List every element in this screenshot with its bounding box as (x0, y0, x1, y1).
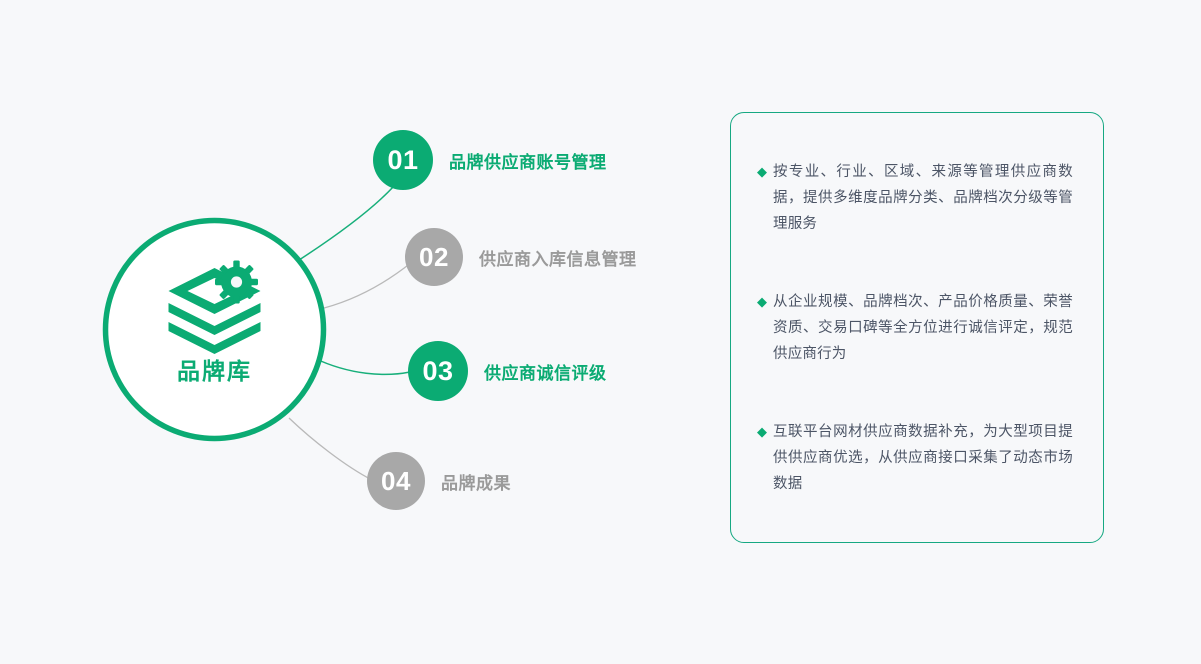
diamond-bullet-icon: ◆ (757, 419, 773, 445)
connector-line-01 (296, 186, 394, 262)
infographic-canvas: 品牌库 01 品牌供应商账号管理 02 供应商入库信息管理 03 供应商诚信评级… (0, 0, 1201, 664)
node-02[interactable]: 02 供应商入库信息管理 (405, 228, 637, 286)
connector-line-02 (316, 262, 412, 310)
description-item: ◆ 按专业、行业、区域、来源等管理供应商数据，提供多维度品牌分类、品牌档次分级等… (757, 159, 1073, 237)
description-item-text: 按专业、行业、区域、来源等管理供应商数据，提供多维度品牌分类、品牌档次分级等管理… (773, 159, 1073, 237)
description-item-text: 从企业规模、品牌档次、产品价格质量、荣誉资质、交易口碑等全方位进行诚信评定，规范… (773, 289, 1073, 367)
node-01[interactable]: 01 品牌供应商账号管理 (373, 130, 607, 190)
description-item: ◆ 从企业规模、品牌档次、产品价格质量、荣誉资质、交易口碑等全方位进行诚信评定，… (757, 289, 1073, 367)
diamond-bullet-icon: ◆ (757, 159, 773, 185)
hub-and-spokes-diagram (0, 0, 720, 664)
node-01-badge[interactable]: 01 (373, 130, 433, 190)
node-01-label[interactable]: 品牌供应商账号管理 (449, 148, 607, 173)
node-03-label[interactable]: 供应商诚信评级 (484, 359, 607, 384)
node-02-badge[interactable]: 02 (405, 228, 463, 286)
diamond-bullet-icon: ◆ (757, 289, 773, 315)
description-panel: ◆ 按专业、行业、区域、来源等管理供应商数据，提供多维度品牌分类、品牌档次分级等… (730, 112, 1104, 543)
description-item-text: 互联平台网材供应商数据补充，为大型项目提供供应商优选，从供应商接口采集了动态市场… (773, 419, 1073, 497)
connector-line-03 (314, 358, 410, 374)
node-03-badge[interactable]: 03 (408, 341, 468, 401)
description-item: ◆ 互联平台网材供应商数据补充，为大型项目提供供应商优选，从供应商接口采集了动态… (757, 419, 1073, 497)
node-04-badge[interactable]: 04 (367, 452, 425, 510)
node-04[interactable]: 04 品牌成果 (367, 452, 511, 510)
connector-line-04 (289, 418, 372, 480)
node-02-label[interactable]: 供应商入库信息管理 (479, 245, 637, 270)
hub-label: 品牌库 (102, 352, 327, 386)
node-03[interactable]: 03 供应商诚信评级 (408, 341, 607, 401)
node-04-label[interactable]: 品牌成果 (441, 469, 511, 494)
